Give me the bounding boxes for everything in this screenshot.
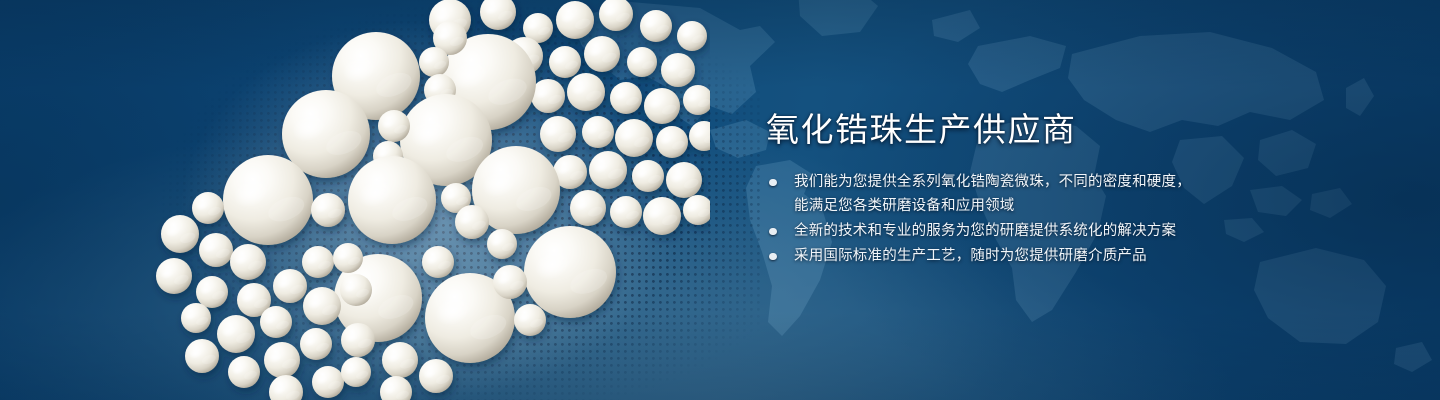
list-item: 我们能为您提供全系列氧化锆陶瓷微珠，不同的密度和硬度， 能满足您各类研磨设备和应… <box>766 170 1236 218</box>
zirconia-beads-photo <box>150 0 710 400</box>
bullet-dot-icon <box>769 253 777 261</box>
list-item-line: 能满足您各类研磨设备和应用领域 <box>794 198 1015 214</box>
list-item-line: 全新的技术和专业的服务为您的研磨提供系统化的解决方案 <box>794 223 1176 239</box>
list-item-line: 我们能为您提供全系列氧化锆陶瓷微珠，不同的密度和硬度， <box>794 174 1191 190</box>
list-item: 全新的技术和专业的服务为您的研磨提供系统化的解决方案 <box>766 219 1236 243</box>
feature-list: 我们能为您提供全系列氧化锆陶瓷微珠，不同的密度和硬度， 能满足您各类研磨设备和应… <box>766 170 1236 268</box>
page-title: 氧化锆珠生产供应商 <box>766 108 1236 152</box>
list-item-line: 采用国际标准的生产工艺，随时为您提供研磨介质产品 <box>794 248 1147 264</box>
list-item: 采用国际标准的生产工艺，随时为您提供研磨介质产品 <box>766 244 1236 268</box>
bullet-dot-icon <box>769 179 777 187</box>
banner-copy: 氧化锆珠生产供应商 我们能为您提供全系列氧化锆陶瓷微珠，不同的密度和硬度， 能满… <box>766 108 1236 269</box>
hero-banner: 氧化锆珠生产供应商 我们能为您提供全系列氧化锆陶瓷微珠，不同的密度和硬度， 能满… <box>0 0 1440 400</box>
bullet-dot-icon <box>769 228 777 236</box>
